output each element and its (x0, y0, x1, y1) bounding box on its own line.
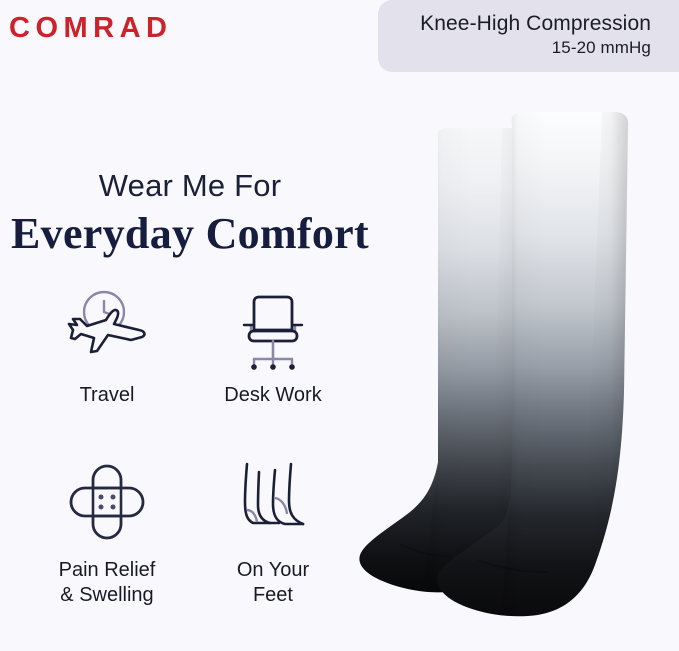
benefits-grid: Travel (24, 283, 356, 608)
airplane-clock-icon (59, 283, 155, 379)
product-marketing-image: COMRAD Knee-High Compression 15-20 mmHg … (0, 0, 679, 651)
product-photo-compression-socks (352, 92, 679, 651)
headline-eyebrow: Wear Me For (0, 168, 380, 205)
benefit-item-on-your-feet: On Your Feet (190, 458, 356, 608)
benefit-label: Pain Relief & Swelling (59, 558, 156, 608)
compression-badge: Knee-High Compression 15-20 mmHg (378, 0, 679, 72)
benefit-label: On Your Feet (237, 558, 309, 608)
brand-logo: COMRAD (9, 14, 173, 43)
badge-compression-level: 15-20 mmHg (378, 37, 651, 60)
headline-main: Everyday Comfort (0, 208, 380, 260)
benefit-label: Travel (80, 383, 135, 408)
benefit-item-travel: Travel (24, 283, 190, 408)
feet-icon (225, 458, 321, 554)
headline-block: Wear Me For Everyday Comfort (0, 168, 380, 259)
benefit-item-desk-work: Desk Work (190, 283, 356, 408)
badge-compression-type: Knee-High Compression (378, 11, 651, 37)
office-chair-icon (225, 283, 321, 379)
bandage-cross-icon (59, 458, 155, 554)
benefit-label: Desk Work (224, 383, 321, 408)
benefit-item-pain-relief: Pain Relief & Swelling (24, 458, 190, 608)
